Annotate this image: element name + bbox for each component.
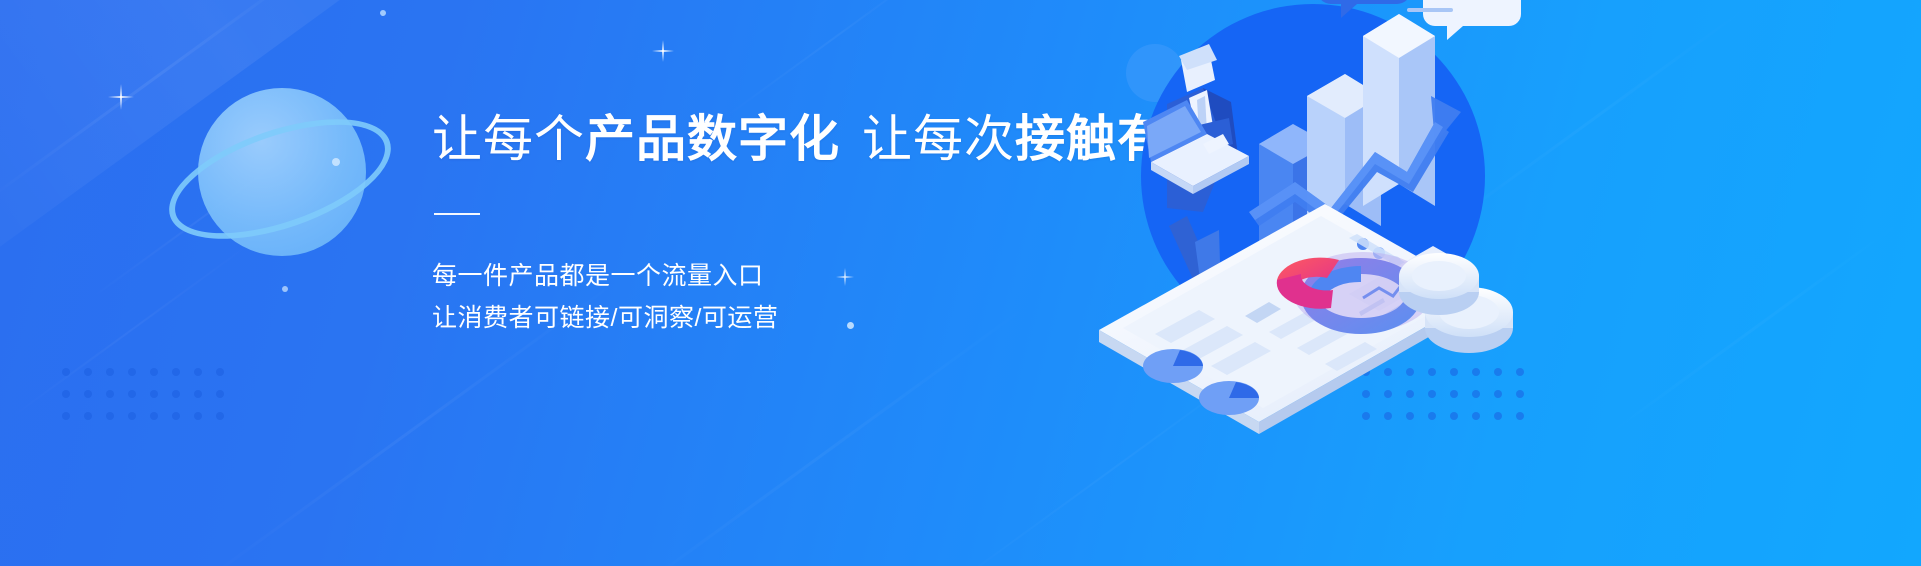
hero-banner: 让每个产品数字化让每次接触有价值 每一件产品都是一个流量入口 让消费者可链接/可… (0, 0, 1921, 566)
pie-chart (1199, 381, 1259, 415)
data-analytics-illustration (1063, 0, 1523, 446)
planet-icon (120, 60, 390, 290)
dot-grid-icon (62, 368, 238, 434)
headline-bold-1: 产品数字化 (585, 111, 840, 167)
sparkle-icon (652, 40, 674, 62)
title-divider (434, 213, 480, 215)
headline-thin-1: 让每个 (432, 111, 585, 167)
light-streak-icon (724, 0, 936, 118)
light-streak-icon (1595, 219, 1904, 445)
headline-thin-2: 让每次 (862, 111, 1015, 167)
light-streak-icon (609, 302, 1031, 566)
pie-chart (1143, 349, 1203, 383)
decor-dot (380, 10, 386, 16)
